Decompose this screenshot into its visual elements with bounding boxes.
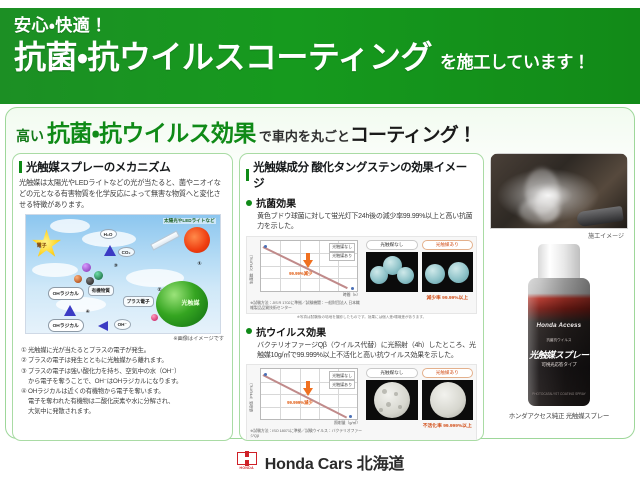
up-arrow-icon [64,305,76,316]
panel-mechanism: 光触媒スプレーのメカニズム 光触媒は太陽光やLEDライトなどの光が当たると、菌や… [12,153,233,441]
molecule-dot [86,277,94,285]
chart-virus-plot: 感染価（PFU/mL） 光触媒なし 光触媒あり [260,368,358,420]
bottle-brand: Honda Access [528,322,590,329]
title-accent-bar [19,161,22,173]
header-main-row: 抗菌・抗ウイルスコーティング を施工しています！ [14,40,626,75]
bullet-icon [246,328,252,334]
cloud-shape [50,219,90,233]
chart-bacteria-legend-2: 光触媒あり [329,252,355,261]
dish-caption: 光触媒あり [422,368,473,378]
bottle-type-line: 可視光応答タイプ [528,362,590,368]
dish-group-bacteria: 光触媒なし 光触媒あり [366,240,473,310]
chart-virus-ylabel: 感染価（PFU/mL） [250,381,255,412]
note-item: 大気中に発散されます。 [21,407,224,417]
subheadline-highlight: 抗菌・抗ウイルス効果 [47,114,256,148]
sub-headline: 高い 抗菌・抗ウイルス効果 で車内を丸ごと コーティング！ [12,114,628,151]
left-arrow-icon [98,321,108,331]
honda-wordmark: HONDA [240,466,254,470]
header-kicker: 安心・快適！ [14,17,626,35]
bottle-cap [538,244,580,282]
step-number-4: ④ [86,309,90,315]
co2-label: CO₂ [118,247,135,257]
chart-virus-legend-1: 光触媒なし [329,371,355,380]
spray-application-photo [490,153,628,229]
bottle-main-line: 光触媒スプレー [528,348,590,361]
molecule-dot [94,271,103,280]
step-number-3: ③ [114,263,118,269]
panel-efficacy: 光触媒成分 酸化タングステンの効果イメージ 抗菌効果 黄色ブドウ球菌に対して蛍光… [239,153,484,441]
header-main-title: 抗菌・抗ウイルスコーティング [14,40,432,75]
subheadline-middle: で車内を丸ごと [259,126,350,145]
mechanism-body: 光触媒は太陽光やLEDライトなどの光が当たると、菌やニオイなどの元となる有害物質… [19,178,226,210]
chart-bacteria: 生菌数（CFU/mL） 光触媒なし 光触媒あり [250,240,362,310]
chart-virus-legend-2: 光触媒あり [329,380,355,389]
efficacy-title: 光触媒成分 酸化タングステンの効果イメージ [253,159,477,191]
content-container: 高い 抗菌・抗ウイルス効果 で車内を丸ごと コーティング！ 光触媒スプレーのメカ… [5,107,635,439]
chart-virus-annotation: 99.999%減少 [287,400,313,406]
dish-note-bacteria: ※写真は試験後の培地を撮影したものです。効果には個人差・環境差があります。 [246,315,477,320]
note-item: から電子を奪うことで、OH⁻はOHラジカルになります。 [21,377,224,387]
dish-item: 光触媒なし [366,368,417,438]
virus-heading-text: 抗ウイルス効果 [256,324,326,339]
honda-logo-icon: HONDA [236,452,258,471]
honda-h-mark [237,452,257,465]
spray-photo-caption: 施工イメージ [490,231,624,240]
cloud-shape [32,263,78,277]
chart-bacteria-ylabel: 生菌数（CFU/mL） [250,253,255,284]
chart-bacteria-plot: 生菌数（CFU/mL） 光触媒なし 光触媒あり [260,240,358,292]
subheadline-tail: コーティング！ [350,120,476,147]
step-number-2: ② [157,287,161,293]
molecule-dot [74,275,82,283]
led-light-icon [150,231,180,251]
light-source-icon [184,227,210,253]
bullet-icon [246,200,252,206]
plus-electron-label: プラス電子 [123,296,154,307]
dealer-name: Honda Cars 北海道 [265,450,404,474]
mechanism-notes: ① 光触媒に光が当たるとプラスの電子が発生。 ② プラスの電子は発生とともに光触… [19,346,226,416]
spray-nozzle [576,206,624,227]
note-item: ③ プラスの電子は強い酸化力を持ち、空気中の水（OH⁻） [21,367,224,377]
bacteria-description: 黄色ブドウ球菌に対して蛍光灯下24h後の減少率99.99%以上と高い抗菌力を示し… [246,212,477,233]
efficacy-title-row: 光触媒成分 酸化タングステンの効果イメージ [246,159,477,191]
title-accent-bar [246,169,249,181]
note-item: 電子を奪われた有機物は二酸化炭素や水に分解され、 [21,397,224,407]
diagram-credit: ※画像はイメージです [19,335,224,342]
oh-radical-label-upper: OHラジカル [48,287,84,300]
electron-dot [151,314,158,321]
panel-product: 施工イメージ Honda Access 抗菌抗ウイルス 光触媒スプレー 可視光応… [490,153,628,441]
mechanism-title: 光触媒スプレーのメカニズム [26,159,170,175]
dish-caption: 光触媒なし [366,240,417,250]
panel-row: 光触媒スプレーのメカニズム 光触媒は太陽光やLEDライトなどの光が当たると、菌や… [12,153,628,441]
molecule-dot [82,263,91,272]
dish-photo-after [422,380,473,420]
mechanism-title-row: 光触媒スプレーのメカニズム [19,159,226,175]
chart-virus-xlabel: 照射量（g/㎡） [250,421,360,426]
dish-item: 光触媒あり 減少率 99.99%以上 [422,240,473,310]
section-heading-bacteria: 抗菌効果 [246,195,477,210]
led-label: 太陽光やLEDライトなど [163,218,216,224]
oh-minus-label: OH⁻ [114,319,131,330]
oh-radical-label-lower: OHラジカル [48,319,84,332]
bottle-body: Honda Access 抗菌抗ウイルス 光触媒スプレー 可視光応答タイプ PH… [528,278,590,406]
organic-label: 有機物質 [88,285,114,296]
chart-bacteria-footnote: ※試験方法：JIS R 1702に準拠／試験機関：一般財団法人 日本繊維製品品質… [250,300,362,310]
note-item: ① 光触媒に光が当たるとプラスの電子が発生。 [21,346,224,356]
header-banner: 安心・快適！ 抗菌・抗ウイルスコーティング を施工しています！ [0,8,640,104]
subheadline-lead: 高い [16,126,44,146]
evidence-virus: 感染価（PFU/mL） 光触媒なし 光触媒あり [246,364,477,441]
dish-photo-before [366,252,417,292]
dish-group-virus: 光触媒なし 光触媒あり [366,368,473,438]
dish-result: 不活化率 99.999%以上 [422,422,473,429]
virus-description: バクテリオファージQβ（ウイルス代替）に光照射（4h）したところ、光触媒10g/… [246,341,477,362]
note-item: ④ OHラジカルは近くの有機物から電子を奪います。 [21,387,224,397]
chart-virus: 感染価（PFU/mL） 光触媒なし 光触媒あり [250,368,362,438]
chart-bacteria-annotation: 99.99%減少 [289,271,312,277]
advertisement-page: 安心・快適！ 抗菌・抗ウイルスコーティング を施工しています！ 高い 抗菌・抗ウ… [0,0,640,480]
bottle-small-line: 抗菌抗ウイルス [528,338,590,343]
note-item: ② プラスの電子は発生とともに光触媒から離れます。 [21,356,224,366]
dish-photo-after [422,252,473,292]
product-bottle: Honda Access 抗菌抗ウイルス 光触媒スプレー 可視光応答タイプ PH… [490,244,628,420]
up-arrow-icon [104,245,116,256]
dish-caption: 光触媒あり [422,240,473,250]
sun-label: 電子 [37,242,47,249]
dish-caption: 光触媒なし [366,368,417,378]
chart-bacteria-legend-1: 光触媒なし [329,243,355,252]
dish-photo-before [366,380,417,420]
section-heading-virus: 抗ウイルス効果 [246,324,477,339]
photocatalyst-label: 光触媒 [182,298,200,307]
photocatalyst-diagram: 電子 太陽光やLEDライトなど H₂O CO₂ 有機物質 OHラジカル OHラジ… [25,214,221,334]
step-number-1: ① [197,261,201,267]
header-subtitle: を施工しています！ [440,48,590,73]
bottle-foot-line: PHOTOCATALYST COATING SPRAY [528,392,590,396]
chart-virus-footnote: ※試験方法：ISO 18071に準拠／試験ウイルス：バクテリオファージQβ [250,428,362,438]
evidence-bacteria: 生菌数（CFU/mL） 光触媒なし 光触媒あり [246,236,477,314]
dish-result: 減少率 99.99%以上 [422,294,473,301]
bottle-caption: ホンダアクセス純正 光触媒スプレー [490,410,628,420]
dish-item: 光触媒なし [366,240,417,310]
dish-item: 光触媒あり 不活化率 99.999%以上 [422,368,473,438]
chart-bacteria-xlabel: 時間（h） [250,293,360,298]
bacteria-heading-text: 抗菌効果 [256,195,296,210]
footer: HONDA Honda Cars 北海道 [0,443,640,480]
